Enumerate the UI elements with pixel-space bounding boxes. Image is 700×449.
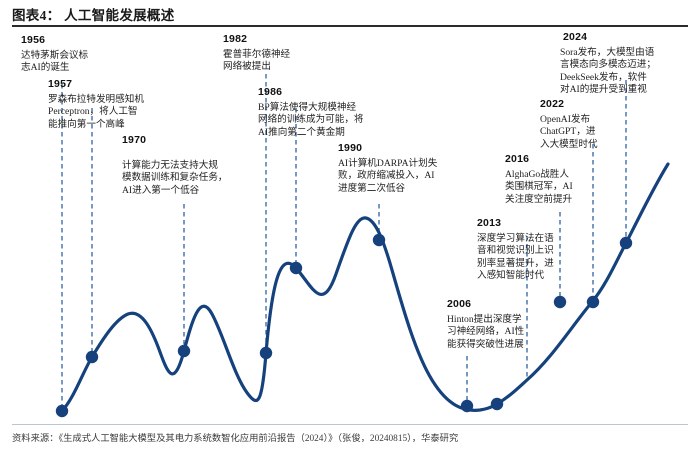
annotation-1990: 1990 AI计算机DARPA计划失 败，政府缩减投入，AI 进度第二次低谷 [338,142,483,195]
annotation-2013-year: 2013 [477,217,577,231]
annotation-2016-body: AlghaGo战胜人 类围棋冠军，AI 关注度空前提升 [505,169,605,206]
annotation-2006-year: 2006 [447,298,565,312]
annotation-2022-year: 2022 [540,98,630,112]
annotation-1986: 1986 BP算法使得大规模神经 网络的训练成为可能，将 AI推向第二个黄金期 [258,86,403,139]
annotation-1990-year: 1990 [338,142,483,156]
annotation-2024-body: Sora发布，大模型由语 言模态向多模态迈进； DeekSeek发布，软件 对A… [560,47,700,97]
figure-header: 图表4： 人工智能发展概述 [12,4,688,24]
annotation-1986-year: 1986 [258,86,403,100]
annotation-2006-body: Hinton提出深度学 习神经网络，AI性 能获得突破性进展 [447,314,565,351]
dot-2022[interactable] [587,296,599,308]
dot-1956[interactable] [56,405,68,417]
annotation-1982: 1982 霍普菲尔德神经 网络被提出 [223,33,343,74]
annotation-1957: 1957 罗森布拉特发明感知机 Perceptron，将人工智 能推向第一个高峰 [48,78,178,131]
annotation-1956-year: 1956 [21,34,141,48]
source-note: 资料来源：《生成式人工智能大模型及其电力系统数智化应用前沿报告（2024）》（张… [12,430,692,444]
dot-1990[interactable] [373,234,385,246]
annotation-1957-year: 1957 [48,78,178,92]
annotation-2016: 2016 AlghaGo战胜人 类围棋冠军，AI 关注度空前提升 [505,153,605,206]
annotation-1986-body: BP算法使得大规模神经 网络的训练成为可能，将 AI推向第二个黄金期 [258,102,403,139]
annotation-1982-body: 霍普菲尔德神经 网络被提出 [223,49,343,74]
annotation-1982-year: 1982 [223,33,343,47]
dot-1970[interactable] [178,345,190,357]
annotation-1956-body: 达特茅斯会议标 志AI的诞生 [21,50,141,75]
annotation-1990-body: AI计算机DARPA计划失 败，政府缩减投入，AI 进度第二次低谷 [338,158,483,195]
annotation-1970-body: 计算能力无法支持大规 模数据训练和复杂任务， AI进入第一个低谷 [122,160,262,197]
annotation-2013: 2013 深度学习算法在语 音和视觉识别上识 别率显著提升，进 入感知智能时代 [477,217,577,283]
annotation-1970-year: 1970 [122,134,262,148]
annotation-2022: 2022 OpenAI发布 ChatGPT，进 入大模型时代 [540,98,630,151]
annotation-2013-body: 深度学习算法在语 音和视觉识别上识 别率显著提升，进 入感知智能时代 [477,233,577,283]
annotation-2022-body: OpenAI发布 ChatGPT，进 入大模型时代 [540,114,630,151]
annotation-1956: 1956 达特茅斯会议标 志AI的诞生 [21,34,141,75]
annotation-2024-year: 2024 [563,31,700,45]
annotation-2016-year: 2016 [505,153,605,167]
dot-2024[interactable] [620,237,632,249]
dot-1982[interactable] [260,347,272,359]
page-title: 图表4： 人工智能发展概述 [12,4,688,24]
annotation-1970: 1970 计算能力无法支持大规 模数据训练和复杂任务， AI进入第一个低谷 [122,134,262,197]
dot-1957[interactable] [86,351,98,363]
annotation-1957-body: 罗森布拉特发明感知机 Perceptron，将人工智 能推向第一个高峰 [48,94,178,131]
footer-divider [12,424,688,425]
annotation-2024: 2024 Sora发布，大模型由语 言模态向多模态迈进； DeekSeek发布，… [560,31,700,97]
dot-2013[interactable] [491,398,503,410]
dot-1986[interactable] [290,262,302,274]
dot-2006[interactable] [461,400,473,412]
annotation-2006: 2006 Hinton提出深度学 习神经网络，AI性 能获得突破性进展 [447,298,565,351]
figure-root: 图表4： 人工智能发展概述 [0,0,700,449]
